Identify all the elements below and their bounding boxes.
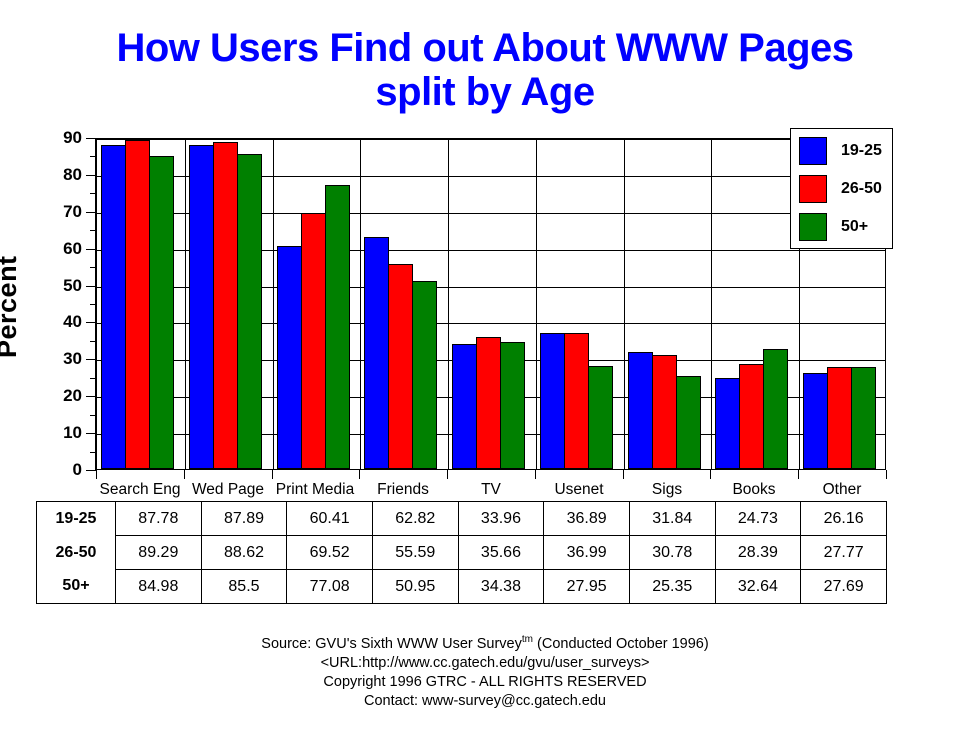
table-cell-other: 27.69	[801, 570, 887, 604]
bar-wed-page-26-50	[213, 142, 238, 469]
page-title: How Users Find out About WWW Pages split…	[0, 26, 970, 114]
bar-tv-19-25	[452, 344, 477, 469]
bar-tv-26-50	[476, 337, 501, 469]
bar-other-26-50	[827, 367, 852, 469]
x-axis-label-wed-page: Wed Page	[192, 481, 264, 499]
y-tick-major	[86, 396, 96, 397]
legend-label: 50+	[841, 218, 868, 236]
bar-other-19-25	[803, 373, 828, 470]
y-tick-label: 60	[63, 239, 82, 259]
legend-label: 26-50	[841, 180, 882, 198]
bar-books-26-50	[739, 364, 764, 469]
bar-friends-19-25	[364, 237, 389, 469]
table-cell-books: 32.64	[715, 570, 801, 604]
x-axis-label-usenet: Usenet	[554, 481, 603, 499]
legend-swatch-icon	[799, 175, 827, 203]
x-axis-label-books: Books	[732, 481, 775, 499]
footer-source-line: Source: GVU's Sixth WWW User Surveytm (C…	[0, 630, 970, 654]
y-tick-major	[86, 322, 96, 323]
bar-group	[536, 139, 624, 469]
table-cell-usenet: 36.89	[544, 502, 630, 536]
table-cell-search-eng: 87.78	[116, 502, 202, 536]
table-row: 50+84.9885.577.0850.9534.3827.9525.3532.…	[37, 570, 887, 604]
table-row-header: 26-50	[37, 536, 116, 570]
y-axis-title: Percent	[0, 255, 23, 358]
x-tick	[710, 470, 711, 479]
y-tick-major	[86, 212, 96, 213]
bar-search-eng-19-25	[101, 145, 126, 469]
x-axis-label-print-media: Print Media	[276, 481, 354, 499]
bar-group	[360, 139, 448, 469]
x-axis-label-tv: TV	[481, 481, 501, 499]
legend-item-19-25[interactable]: 19-25	[799, 137, 889, 167]
table-cell-sigs: 25.35	[629, 570, 715, 604]
bar-friends-26-50	[388, 264, 413, 469]
table-row-header: 19-25	[37, 502, 116, 536]
y-tick-major	[86, 286, 96, 287]
y-axis: Percent 0102030405060708090	[0, 130, 96, 478]
bar-books-19-25	[715, 378, 740, 469]
table-row-header: 50+	[37, 570, 116, 604]
y-tick-label: 10	[63, 423, 82, 443]
bar-usenet-50+	[588, 366, 613, 469]
y-tick-label: 90	[63, 128, 82, 148]
table-cell-wed-page: 87.89	[201, 502, 287, 536]
y-tick-major	[86, 138, 96, 139]
y-tick-major	[86, 359, 96, 360]
footer-source-pre: Source: GVU's Sixth WWW User Survey	[261, 636, 522, 652]
x-tick	[535, 470, 536, 479]
table-row: 19-2587.7887.8960.4162.8233.9636.8931.84…	[37, 502, 887, 536]
footer-copyright-line: Copyright 1996 GTRC - ALL RIGHTS RESERVE…	[0, 673, 970, 692]
y-tick-label: 0	[73, 460, 82, 480]
bar-group	[273, 139, 361, 469]
bar-usenet-26-50	[564, 333, 589, 469]
bar-sigs-19-25	[628, 352, 653, 469]
table-row: 26-5089.2988.6269.5255.5935.6636.9930.78…	[37, 536, 887, 570]
y-tick-label: 50	[63, 276, 82, 296]
y-tick-major	[86, 175, 96, 176]
legend-swatch-icon	[799, 213, 827, 241]
footer-contact-line: Contact: www-survey@cc.gatech.edu	[0, 692, 970, 711]
bar-wed-page-19-25	[189, 145, 214, 469]
bar-sigs-26-50	[652, 355, 677, 469]
x-tick	[447, 470, 448, 479]
bar-group	[711, 139, 799, 469]
bar-tv-50+	[500, 342, 525, 469]
table-cell-print-media: 77.08	[287, 570, 373, 604]
y-tick-label: 80	[63, 165, 82, 185]
y-tick-label: 30	[63, 349, 82, 369]
footer-url-line: <URL:http://www.cc.gatech.edu/gvu/user_s…	[0, 654, 970, 673]
table-cell-print-media: 60.41	[287, 502, 373, 536]
table-cell-wed-page: 88.62	[201, 536, 287, 570]
x-axis-label-other: Other	[823, 481, 862, 499]
x-axis-ticks	[96, 470, 887, 479]
bar-sigs-50+	[676, 376, 701, 470]
table-cell-friends: 50.95	[372, 570, 458, 604]
legend: 19-2526-5050+	[790, 128, 893, 249]
bar-usenet-19-25	[540, 333, 565, 469]
table-cell-search-eng: 89.29	[116, 536, 202, 570]
table-cell-usenet: 36.99	[544, 536, 630, 570]
x-tick	[184, 470, 185, 479]
bar-wed-page-50+	[237, 154, 262, 469]
bar-search-eng-50+	[149, 156, 174, 469]
legend-item-26-50[interactable]: 26-50	[799, 175, 889, 205]
title-line-1: How Users Find out About WWW Pages	[116, 26, 853, 70]
bar-print-media-19-25	[277, 246, 302, 469]
plot-area-wrapper	[96, 138, 886, 470]
data-table: 19-2587.7887.8960.4162.8233.9636.8931.84…	[36, 501, 887, 604]
x-axis-label-friends: Friends	[377, 481, 429, 499]
table-cell-other: 26.16	[801, 502, 887, 536]
legend-item-50+[interactable]: 50+	[799, 213, 889, 243]
x-tick	[359, 470, 360, 479]
bar-books-50+	[763, 349, 788, 469]
bar-friends-50+	[412, 281, 437, 469]
table-cell-usenet: 27.95	[544, 570, 630, 604]
x-axis-label-sigs: Sigs	[652, 481, 682, 499]
x-tick	[96, 470, 97, 479]
y-tick-label: 40	[63, 312, 82, 332]
table-cell-sigs: 30.78	[629, 536, 715, 570]
table-cell-other: 27.77	[801, 536, 887, 570]
table-cell-friends: 62.82	[372, 502, 458, 536]
x-tick	[798, 470, 799, 479]
x-tick	[623, 470, 624, 479]
y-tick-label: 70	[63, 202, 82, 222]
bar-print-media-26-50	[301, 213, 326, 469]
bar-print-media-50+	[325, 185, 350, 469]
x-tick	[272, 470, 273, 479]
table-cell-tv: 33.96	[458, 502, 544, 536]
footer: Source: GVU's Sixth WWW User Surveytm (C…	[0, 630, 970, 711]
legend-swatch-icon	[799, 137, 827, 165]
bar-group	[624, 139, 712, 469]
table-cell-search-eng: 84.98	[116, 570, 202, 604]
table-cell-print-media: 69.52	[287, 536, 373, 570]
data-table-body: 19-2587.7887.8960.4162.8233.9636.8931.84…	[37, 502, 887, 604]
x-axis-label-search-eng: Search Eng	[100, 481, 181, 499]
table-cell-wed-page: 85.5	[201, 570, 287, 604]
y-tick-major	[86, 249, 96, 250]
footer-source-post: (Conducted October 1996)	[533, 636, 709, 652]
x-axis-labels: Search EngWed PagePrint MediaFriendsTVUs…	[96, 481, 886, 501]
y-tick-major	[86, 433, 96, 434]
title-line-2: split by Age	[0, 70, 970, 114]
table-cell-books: 28.39	[715, 536, 801, 570]
plot-area	[96, 138, 886, 470]
footer-trademark: tm	[522, 634, 533, 645]
bar-group	[448, 139, 536, 469]
bar-group	[185, 139, 273, 469]
y-tick-label: 20	[63, 386, 82, 406]
bar-group	[97, 139, 185, 469]
legend-label: 19-25	[841, 142, 882, 160]
bar-search-eng-26-50	[125, 140, 150, 469]
table-cell-sigs: 31.84	[629, 502, 715, 536]
y-tick-major	[86, 470, 96, 471]
table-cell-tv: 34.38	[458, 570, 544, 604]
bar-other-50+	[851, 367, 876, 469]
table-cell-friends: 55.59	[372, 536, 458, 570]
table-cell-tv: 35.66	[458, 536, 544, 570]
table-cell-books: 24.73	[715, 502, 801, 536]
x-tick	[886, 470, 887, 479]
